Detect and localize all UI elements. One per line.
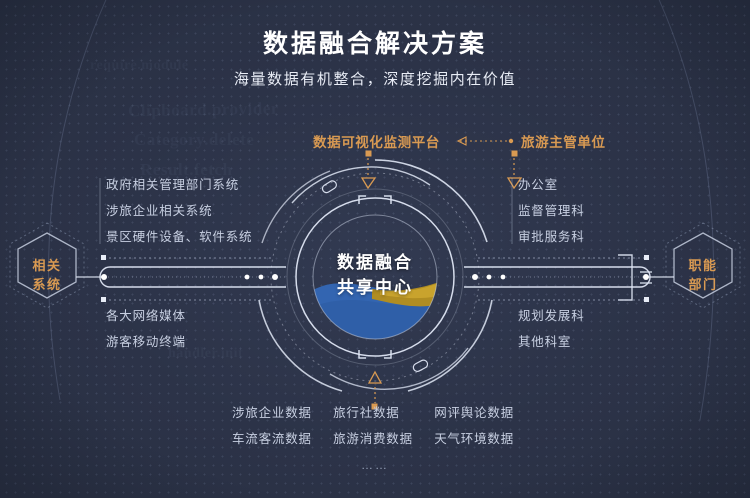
top-platform-arrow — [362, 151, 375, 188]
list-item: 各大网络媒体 — [106, 303, 186, 329]
left-pipe-flow-dots — [245, 274, 278, 280]
infographic-canvas: Clipboard.provider Category.delete Resul… — [0, 0, 750, 498]
table-cell: 旅行社数据 — [333, 400, 434, 426]
table-cell: 旅游消费数据 — [333, 426, 434, 452]
list-item: 其他科室 — [518, 329, 585, 355]
left-lower-list: 各大网络媒体 游客移动终端 — [106, 303, 186, 355]
list-item: 规划发展科 — [518, 303, 585, 329]
bottom-ellipsis: …… — [0, 458, 750, 472]
label-visualization-platform: 数据可视化监测平台 — [313, 131, 440, 151]
bottom-data-sources-grid: 涉旅企业数据 旅行社数据 网评舆论数据 车流客流数据 旅游消费数据 天气环境数据 — [232, 400, 522, 452]
list-item: 政府相关管理部门系统 — [106, 172, 252, 198]
hexagon-right-line1: 职能 — [673, 256, 733, 275]
list-item: 办公室 — [518, 172, 585, 198]
core-sphere-label: 数据融合 共享中心 — [305, 250, 445, 300]
left-pipe-origin-dot — [101, 274, 107, 280]
right-lower-list: 规划发展科 其他科室 — [518, 303, 585, 355]
list-item: 审批服务科 — [518, 224, 585, 250]
right-data-pipe — [464, 267, 650, 287]
core-line2: 共享中心 — [305, 275, 445, 300]
hexagon-right-line2: 部门 — [673, 275, 733, 294]
left-data-pipe — [100, 267, 286, 287]
hexagon-left-line2: 系统 — [17, 275, 77, 294]
hexagon-right-label: 职能 部门 — [673, 256, 733, 294]
core-line1: 数据融合 — [305, 250, 445, 275]
left-dotted-branch — [104, 258, 272, 300]
table-cell: 网评舆论数据 — [434, 400, 522, 426]
table-row: 车流客流数据 旅游消费数据 天气环境数据 — [232, 426, 522, 452]
table-cell: 涉旅企业数据 — [232, 400, 333, 426]
right-pipe-flow-dots — [472, 274, 505, 280]
right-pipe-origin-dot — [643, 274, 649, 280]
right-ring-bracket — [618, 255, 652, 300]
table-cell: 天气环境数据 — [434, 426, 522, 452]
hexagon-left-line1: 相关 — [17, 256, 77, 275]
right-upper-list: 办公室 监督管理科 审批服务科 — [518, 172, 585, 250]
hexagon-left-label: 相关 系统 — [17, 256, 77, 294]
table-cell: 车流客流数据 — [232, 426, 333, 452]
page-title: 数据融合解决方案 — [0, 24, 750, 60]
left-upper-list: 政府相关管理部门系统 涉旅企业相关系统 景区硬件设备、软件系统 — [106, 172, 252, 250]
list-item: 景区硬件设备、软件系统 — [106, 224, 252, 250]
page-subtitle: 海量数据有机整合，深度挖掘内在价值 — [0, 68, 750, 89]
table-row: 涉旅企业数据 旅行社数据 网评舆论数据 — [232, 400, 522, 426]
right-dotted-branch — [478, 258, 646, 300]
left-branch-endpoint — [101, 255, 106, 302]
platform-authority-link — [458, 137, 513, 145]
list-item: 游客移动终端 — [106, 329, 186, 355]
label-tourism-authority: 旅游主管单位 — [521, 131, 606, 151]
right-branch-endpoint — [644, 255, 649, 302]
list-item: 监督管理科 — [518, 198, 585, 224]
list-item: 涉旅企业相关系统 — [106, 198, 252, 224]
watermark-text: Category.delete — [134, 130, 254, 150]
watermark-text: Clipboard.provider — [128, 99, 279, 122]
